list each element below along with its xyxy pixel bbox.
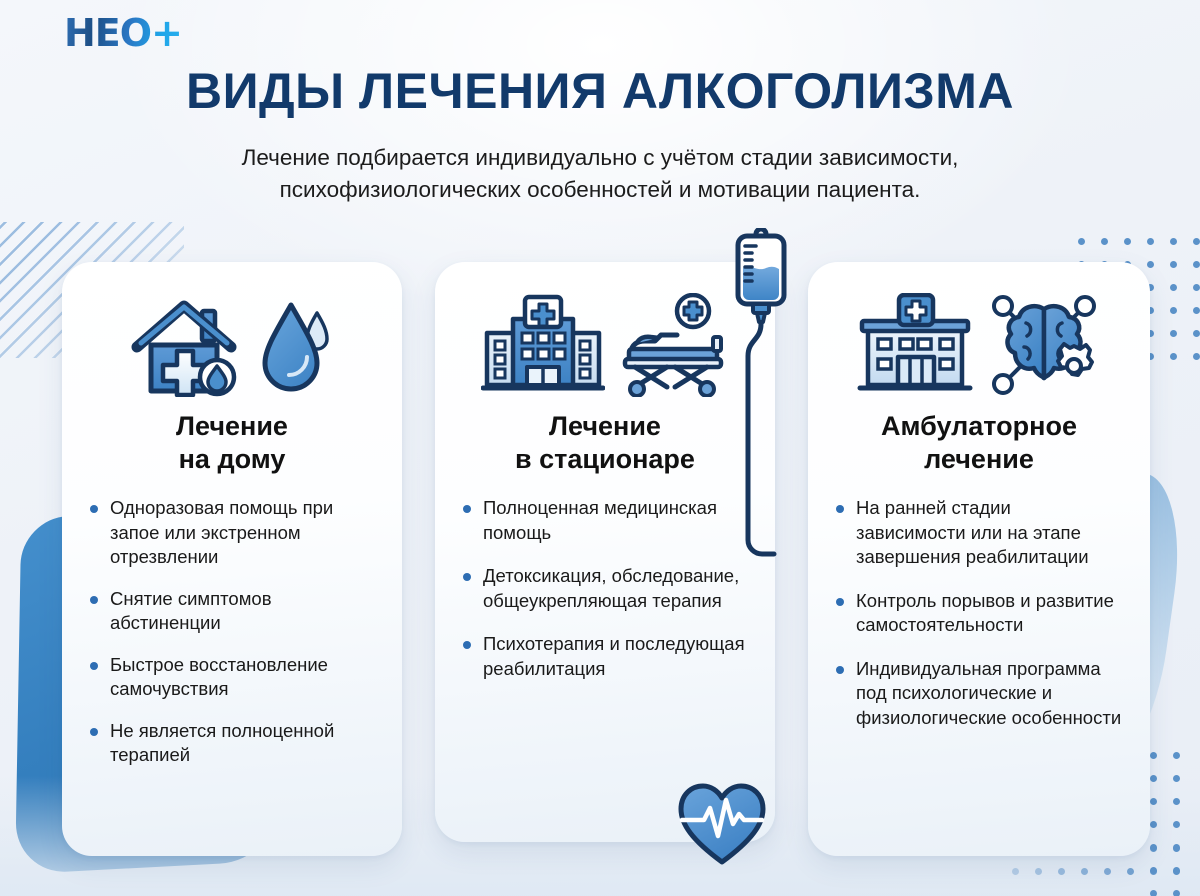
list-item: Одноразовая помощь при запое или экстрен… [88, 496, 376, 570]
list-item: На ранней стадии зависимости или на этап… [834, 496, 1124, 570]
card-title-home: Лечение на дому [176, 410, 288, 476]
list-item: Контроль порывов и развитие самостоятель… [834, 589, 1124, 638]
card-icons-home [88, 284, 376, 406]
card-title-line-2: на дому [176, 443, 288, 476]
water-drop-icon [257, 293, 335, 397]
iv-drip-icon [726, 228, 796, 568]
heartbeat-heart-icon [676, 782, 768, 868]
page-subtitle: Лечение подбирается индивидуально с учёт… [95, 142, 1105, 206]
treatment-card-outpatient[interactable]: Амбулаторное лечение На ранней стадии за… [808, 262, 1150, 856]
list-item: Индивидуальная программа под психологиче… [834, 657, 1124, 731]
card-title-line-2: в стационаре [515, 443, 695, 476]
card-icons-inpatient [461, 284, 749, 406]
page-title: ВИДЫ ЛЕЧЕНИЯ АЛКОГОЛИЗМА [0, 62, 1200, 120]
list-item: Не является полноценной терапией [88, 719, 376, 768]
hospital-building-icon [481, 293, 605, 397]
card-title-line-1: Лечение [176, 410, 288, 443]
card-title-line-1: Амбулаторное [881, 410, 1077, 443]
list-item: Быстрое восстановление самочувствия [88, 653, 376, 702]
card-icons-outpatient [834, 284, 1124, 406]
list-item: Психотерапия и последующая реабилитация [461, 632, 749, 681]
list-item: Полноценная медицинская помощь [461, 496, 749, 545]
bullet-list-outpatient: На ранней стадии зависимости или на этап… [834, 496, 1124, 749]
infographic-canvas: НЕО+ ВИДЫ ЛЕЧЕНИЯ АЛКОГОЛИЗМА Лечение по… [0, 0, 1200, 896]
clinic-building-icon [856, 293, 974, 397]
treatment-card-home[interactable]: Лечение на дому Одноразовая помощь при з… [62, 262, 402, 856]
list-item: Детоксикация, обследование, общеукрепляю… [461, 564, 749, 613]
home-medical-icon [129, 293, 245, 397]
card-title-line-2: лечение [881, 443, 1077, 476]
bullet-list-home: Одноразовая помощь при запое или экстрен… [88, 496, 376, 785]
brain-gear-icon [986, 293, 1102, 397]
bullet-list-inpatient: Полноценная медицинская помощь Детоксика… [461, 496, 749, 700]
card-title-outpatient: Амбулаторное лечение [881, 410, 1077, 476]
hospital-bed-icon [617, 293, 729, 397]
card-title-line-1: Лечение [515, 410, 695, 443]
brand-logo: НЕО+ [64, 14, 182, 52]
subtitle-line-1: Лечение подбирается индивидуально с учёт… [95, 142, 1105, 174]
treatment-card-inpatient[interactable]: Лечение в стационаре Полноценная медицин… [435, 262, 775, 842]
list-item: Снятие симптомов абстиненции [88, 587, 376, 636]
subtitle-line-2: психофизиологических особенностей и моти… [95, 174, 1105, 206]
card-title-inpatient: Лечение в стационаре [515, 410, 695, 476]
